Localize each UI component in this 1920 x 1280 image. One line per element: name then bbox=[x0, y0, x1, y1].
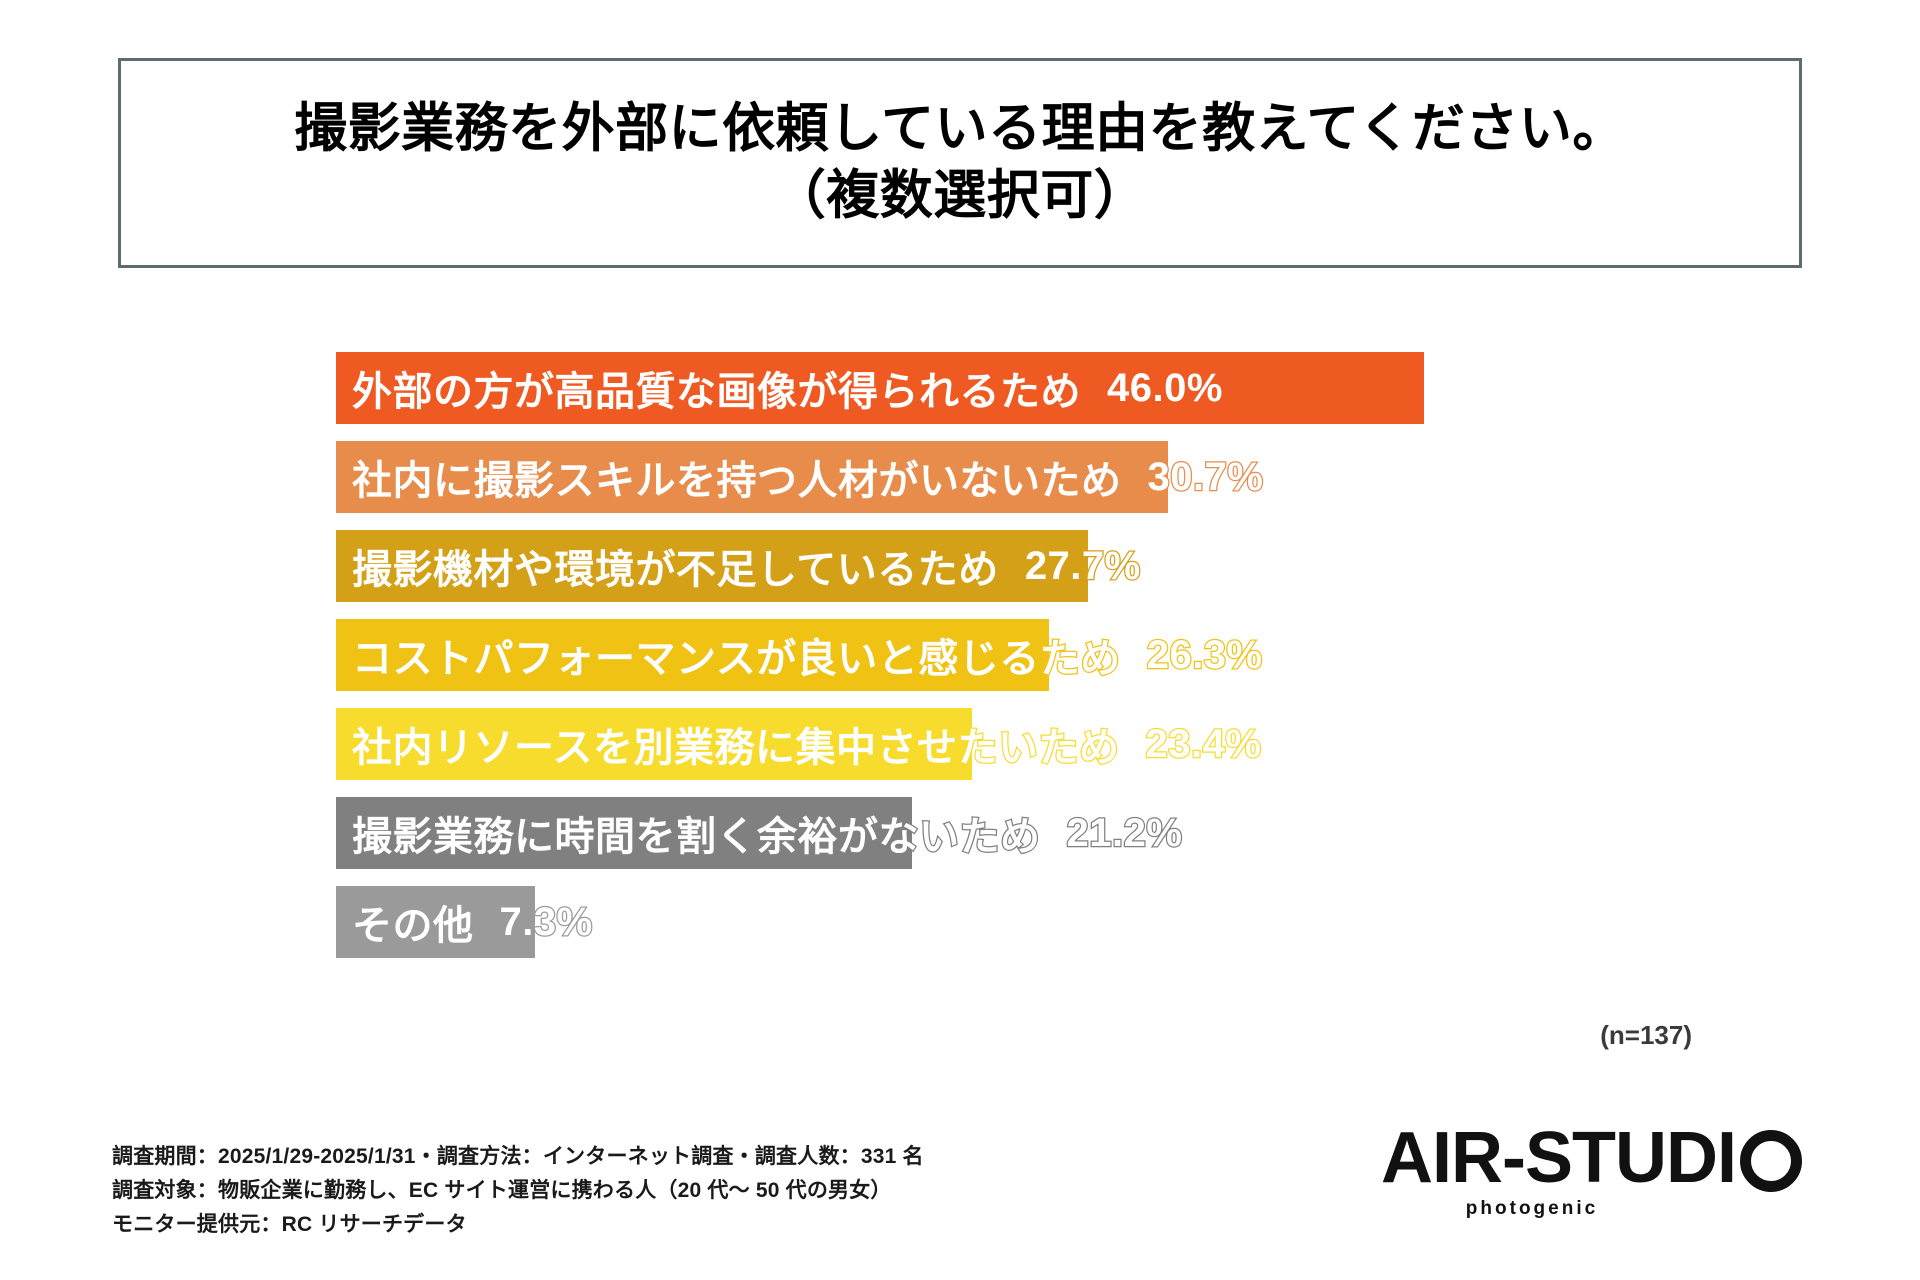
logo-aperture-icon bbox=[1740, 1130, 1802, 1192]
bar-row: 外部の方が高品質な画像が得られるため46.0% bbox=[0, 352, 1920, 424]
bar-category-label: コストパフォーマンスが良いと感じるため bbox=[352, 626, 1121, 684]
bar-row: 撮影機材や環境が不足しているため27.7% bbox=[0, 530, 1920, 602]
air-studio-logo: AIR-STUDI photogenic bbox=[1302, 1122, 1802, 1220]
bar-value-label: 26.3% bbox=[1147, 633, 1263, 678]
bar-row: 社内に撮影スキルを持つ人材がいないため30.7% bbox=[0, 441, 1920, 513]
bar-text: 撮影機材や環境が不足しているため27.7% bbox=[352, 530, 1141, 602]
bar-row: その他7.3% bbox=[0, 886, 1920, 958]
page-title-line-2: （複数選択可） bbox=[773, 165, 1148, 228]
bar-category-label: 外部の方が高品質な画像が得られるため bbox=[352, 359, 1081, 417]
bar-text: 社内リソースを別業務に集中させたいため23.4% bbox=[352, 708, 1261, 780]
bar-value-label: 46.0% bbox=[1107, 366, 1223, 411]
bar-text: コストパフォーマンスが良いと感じるため26.3% bbox=[352, 619, 1263, 691]
sample-size-label: (n=137) bbox=[1600, 1020, 1692, 1051]
bar-value-label: 27.7% bbox=[1025, 544, 1141, 589]
logo-subtitle: photogenic bbox=[1302, 1198, 1802, 1220]
bar-text: その他7.3% bbox=[352, 886, 593, 958]
page-title-line-1: 撮影業務を外部に依頼している理由を教えてください。 bbox=[294, 98, 1626, 161]
title-box: 撮影業務を外部に依頼している理由を教えてください。 （複数選択可） bbox=[118, 58, 1802, 268]
bar-text: 撮影業務に時間を割く余裕がないため21.2% bbox=[352, 797, 1182, 869]
bar-value-label: 7.3% bbox=[500, 900, 593, 945]
bar-category-label: その他 bbox=[352, 893, 474, 951]
bar-chart: 外部の方が高品質な画像が得られるため46.0%社内に撮影スキルを持つ人材がいない… bbox=[0, 352, 1920, 1092]
bar-value-label: 30.7% bbox=[1148, 455, 1264, 500]
survey-note-target: 調査対象：物販企業に勤務し、EC サイト運営に携わる人（20 代〜 50 代の男… bbox=[112, 1174, 924, 1208]
logo-wordmark: AIR-STUDI bbox=[1302, 1122, 1802, 1194]
survey-note-monitor: モニター提供元：RC リサーチデータ bbox=[112, 1208, 924, 1242]
bar-category-label: 社内に撮影スキルを持つ人材がいないため bbox=[352, 448, 1122, 506]
bar-row: 社内リソースを別業務に集中させたいため23.4% bbox=[0, 708, 1920, 780]
bar-text: 社内に撮影スキルを持つ人材がいないため30.7% bbox=[352, 441, 1263, 513]
bar-category-label: 撮影機材や環境が不足しているため bbox=[352, 537, 999, 595]
bar-text: 外部の方が高品質な画像が得られるため46.0% bbox=[352, 352, 1223, 424]
bar-category-label: 撮影業務に時間を割く余裕がないため bbox=[352, 804, 1041, 862]
survey-method-notes: 調査期間：2025/1/29-2025/1/31・調査方法：インターネット調査・… bbox=[112, 1140, 924, 1242]
bar-value-label: 21.2% bbox=[1067, 811, 1183, 856]
bar-row: 撮影業務に時間を割く余裕がないため21.2% bbox=[0, 797, 1920, 869]
survey-note-period: 調査期間：2025/1/29-2025/1/31・調査方法：インターネット調査・… bbox=[112, 1140, 924, 1174]
bar-value-label: 23.4% bbox=[1146, 722, 1262, 767]
bar-category-label: 社内リソースを別業務に集中させたいため bbox=[352, 715, 1120, 773]
logo-wordmark-text: AIR-STUDI bbox=[1381, 1122, 1736, 1194]
bar-row: コストパフォーマンスが良いと感じるため26.3% bbox=[0, 619, 1920, 691]
